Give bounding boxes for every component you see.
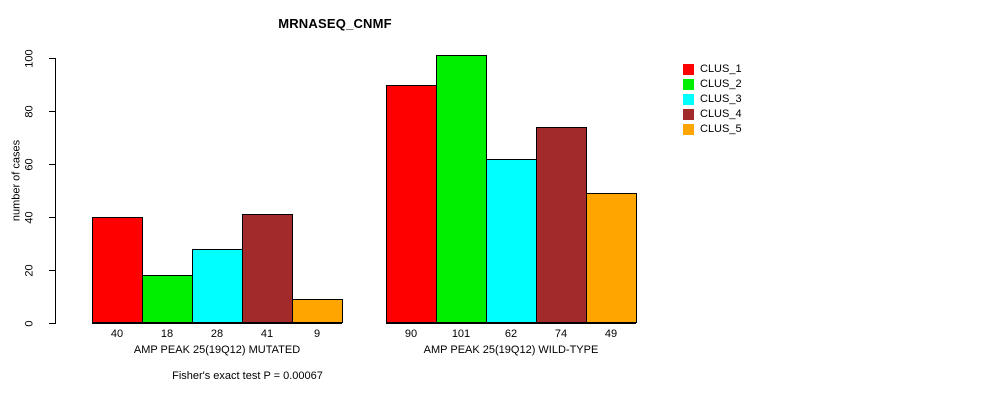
bar-value-label: 41 [242,328,292,340]
bar [242,214,293,323]
footnote-text: Fisher's exact test P = 0.00067 [172,370,323,382]
y-axis-tick-label: 40 [25,201,36,235]
page-title: MRNASEQ_CNMF [0,16,670,31]
legend-item: CLUS_5 [683,122,742,137]
bar-value-label: 18 [142,328,192,340]
bar-value-label: 90 [386,328,436,340]
bar [386,85,437,324]
legend-item-label: CLUS_1 [700,64,742,75]
y-axis-tick [49,217,55,218]
x-axis-baseline [386,323,636,324]
bar [92,217,143,323]
bar [142,275,193,323]
bar [192,249,243,323]
legend-item: CLUS_2 [683,77,742,92]
legend-item-label: CLUS_2 [700,79,742,90]
y-axis-tick-label: 60 [25,148,36,182]
y-axis-tick-label: 0 [25,307,36,341]
bar-value-label: 9 [292,328,342,340]
bar-value-label: 40 [92,328,142,340]
legend-item: CLUS_4 [683,107,742,122]
y-axis-tick-label: 100 [25,42,36,76]
bar-value-label: 101 [436,328,486,340]
legend-swatch-icon [683,124,694,135]
legend-swatch-icon [683,109,694,120]
legend-item: CLUS_1 [683,62,742,77]
bar-chart: MRNASEQ_CNMF 020406080100 number of case… [0,0,990,400]
bar [436,55,487,323]
y-axis-tick [49,270,55,271]
y-axis-tick-label: 20 [25,254,36,288]
footnote: Fisher's exact test P = 0.00067 [0,370,990,382]
y-axis-line [55,58,56,324]
y-axis-title: number of cases [12,126,23,236]
legend-item-label: CLUS_5 [700,124,742,135]
legend-item-label: CLUS_4 [700,109,742,120]
y-axis-tick [49,111,55,112]
bar-value-label: 49 [586,328,636,340]
bar [292,299,343,323]
y-axis-tick [49,164,55,165]
legend-item-label: CLUS_3 [700,94,742,105]
legend-item: CLUS_3 [683,92,742,107]
bar [536,127,587,323]
bar [586,193,637,323]
y-axis-tick-label: 80 [25,95,36,129]
y-axis-tick [49,323,55,324]
legend: CLUS_1CLUS_2CLUS_3CLUS_4CLUS_5 [683,62,742,137]
legend-swatch-icon [683,64,694,75]
group-axis-label: AMP PEAK 25(19Q12) WILD-TYPE [326,344,696,356]
legend-swatch-icon [683,94,694,105]
y-axis-tick [49,58,55,59]
x-axis-baseline [92,323,342,324]
legend-swatch-icon [683,79,694,90]
bar [486,159,537,323]
bar-value-label: 28 [192,328,242,340]
bar-value-label: 74 [536,328,586,340]
bar-value-label: 62 [486,328,536,340]
